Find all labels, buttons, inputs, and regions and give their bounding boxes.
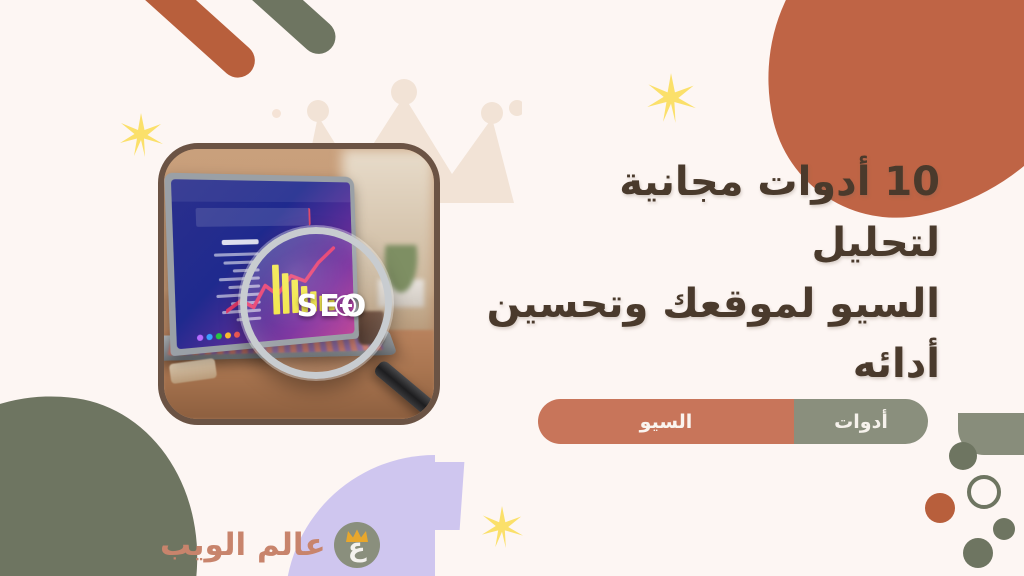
feature-photo: SEO: [158, 143, 440, 425]
headline-line-3: أدائه: [480, 334, 940, 395]
seo-plus-icon: [335, 295, 356, 316]
decor-dot-ring: [967, 475, 1001, 509]
magnifier-lens-icon: SEO: [240, 227, 392, 379]
decor-dot-peach: [272, 109, 281, 118]
sparkle-icon-top: [645, 72, 697, 128]
dashboard-topbar: [171, 179, 351, 202]
decor-dot-olive-2: [993, 518, 1015, 540]
banner-canvas: SEO 10 أدوات مجانية لتحليل السيو لموقعك …: [0, 0, 1024, 576]
decor-dot-olive-3: [963, 538, 993, 568]
dashboard-search-field: [196, 208, 311, 226]
brand-logo[interactable]: ع عالم الويب: [160, 522, 380, 568]
tag-seo[interactable]: السيو: [538, 399, 794, 444]
diagonal-bar-rust: [68, 0, 262, 85]
category-tag-bar[interactable]: أدوات السيو: [538, 399, 928, 444]
seo-screen-text: SEO: [297, 289, 368, 324]
page-title: 10 أدوات مجانية لتحليل السيو لموقعك وتحس…: [480, 152, 940, 395]
tag-tools[interactable]: أدوات: [794, 399, 928, 444]
brand-crown-icon: [345, 527, 369, 546]
diagonal-bar-olive: [153, 0, 343, 61]
headline-line-2: السيو لموقعك وتحسين: [480, 274, 940, 335]
dashboard-dock: [196, 331, 239, 341]
headline-line-1: 10 أدوات مجانية لتحليل: [480, 152, 940, 274]
brand-mark-circle: ع: [334, 522, 380, 568]
decor-dot-rust: [925, 493, 955, 523]
feature-photo-inner: SEO: [164, 149, 434, 419]
sparkle-icon-left: [118, 112, 164, 162]
decor-dot-olive-1: [949, 442, 977, 470]
brand-name: عالم الويب: [160, 527, 326, 563]
sparkle-icon-bottom: [480, 505, 524, 553]
lavender-quad: [398, 462, 465, 530]
